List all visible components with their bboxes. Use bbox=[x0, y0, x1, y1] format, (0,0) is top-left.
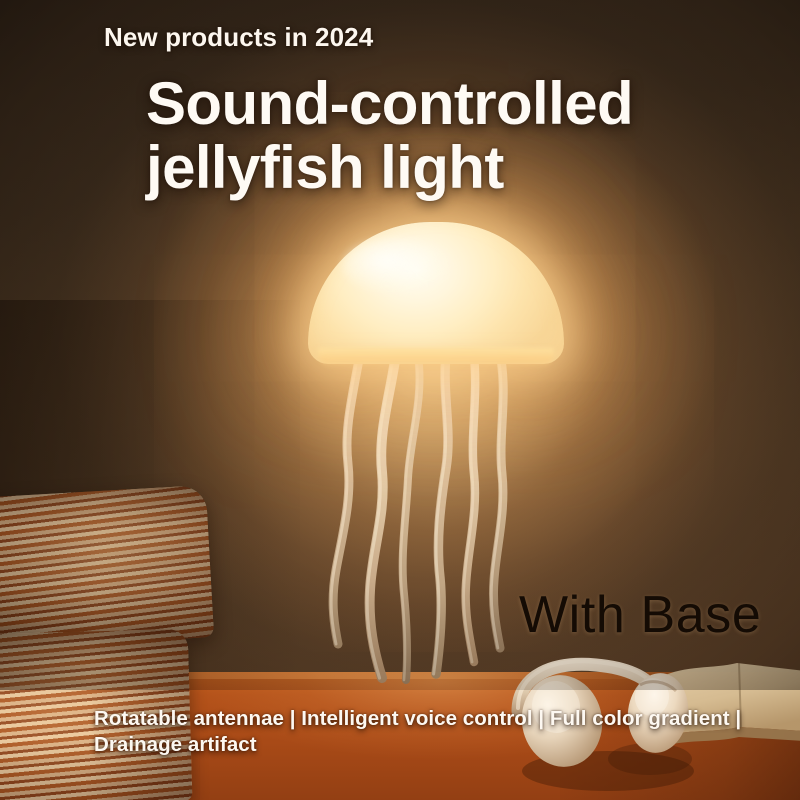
dome-highlight bbox=[342, 238, 452, 294]
with-base-badge: With Base bbox=[519, 585, 761, 645]
ad-feature-list: Rotatable antennae | Intelligent voice c… bbox=[94, 706, 742, 758]
dome-base-glow bbox=[318, 348, 554, 368]
product-ad-scene: New products in 2024 Sound-controlled je… bbox=[0, 0, 800, 800]
ad-eyebrow-text: New products in 2024 bbox=[104, 22, 373, 53]
ad-headline: Sound-controlled jellyfish light bbox=[146, 72, 633, 199]
striped-pillow-top bbox=[0, 485, 214, 651]
pillow-shading bbox=[0, 485, 214, 651]
